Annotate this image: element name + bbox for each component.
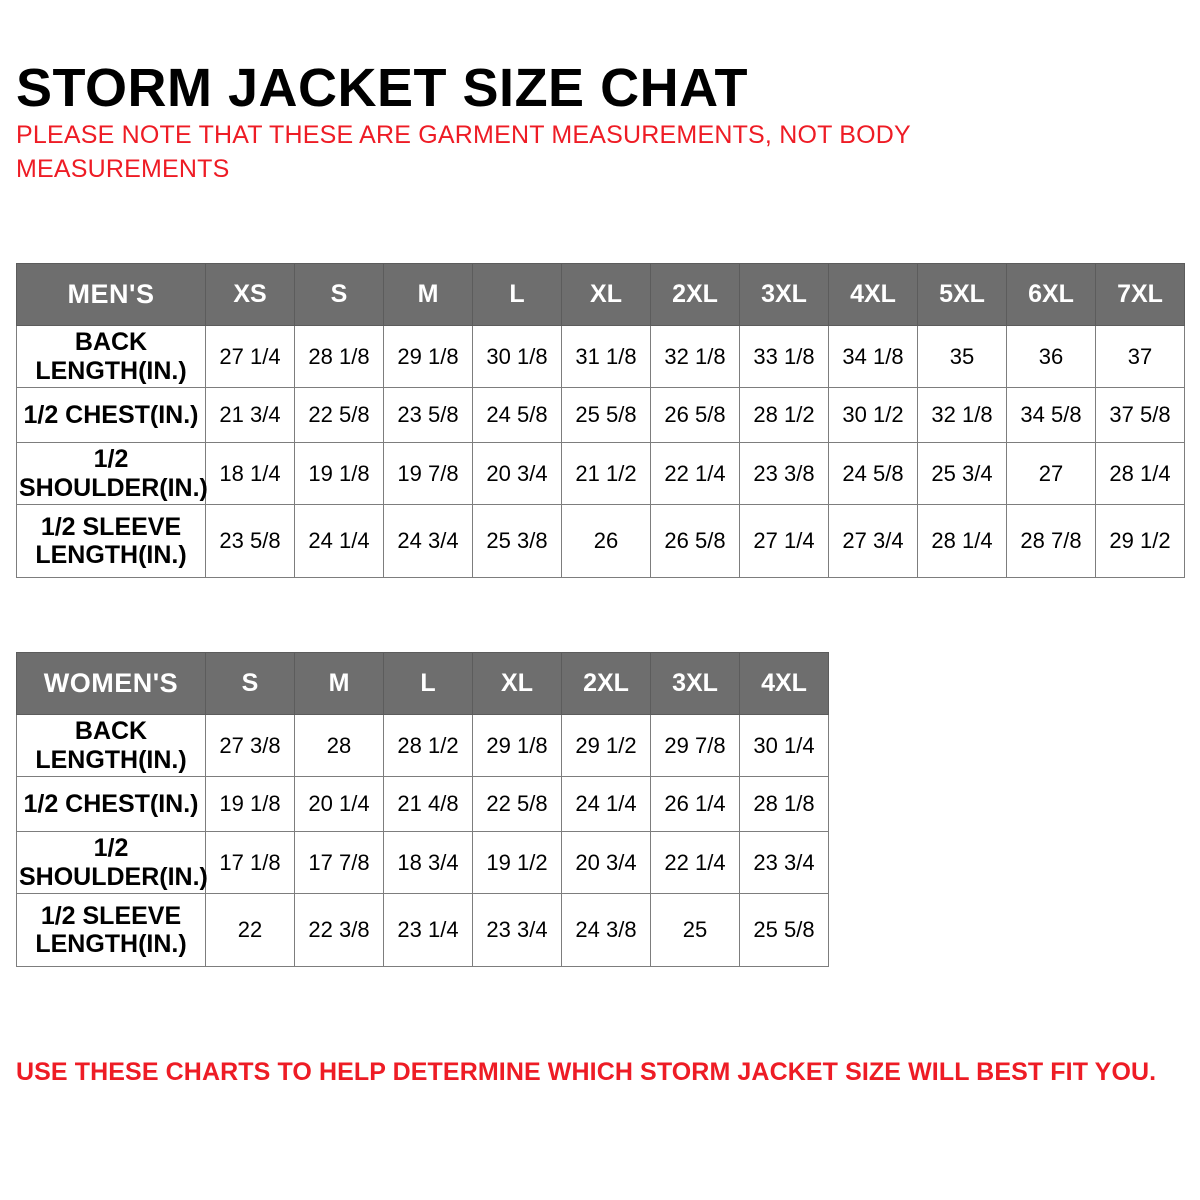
mens-measurement-value: 35 (918, 326, 1007, 388)
womens-measurement-value: 24 1/4 (562, 777, 651, 832)
womens-size-column-header: 4XL (740, 653, 829, 715)
mens-measurement-value: 24 5/8 (473, 388, 562, 443)
womens-measurement-value: 22 3/8 (295, 894, 384, 967)
mens-measurement-value: 28 7/8 (1007, 505, 1096, 578)
mens-measurement-value: 29 1/2 (1096, 505, 1185, 578)
table-row: 1/2 SHOULDER(IN.)18 1/419 1/819 7/820 3/… (17, 443, 1185, 505)
mens-measurement-value: 26 (562, 505, 651, 578)
womens-measurement-value: 29 1/8 (473, 715, 562, 777)
womens-measurement-value: 24 3/8 (562, 894, 651, 967)
womens-measurement-value: 28 (295, 715, 384, 777)
mens-measurement-value: 24 1/4 (295, 505, 384, 578)
womens-measurement-value: 23 3/4 (473, 894, 562, 967)
mens-measurement-value: 28 1/8 (295, 326, 384, 388)
mens-measurement-value: 27 (1007, 443, 1096, 505)
mens-size-column-header: M (384, 264, 473, 326)
mens-size-column-header: XS (206, 264, 295, 326)
womens-measurement-value: 19 1/2 (473, 832, 562, 894)
womens-measurement-value: 23 1/4 (384, 894, 473, 967)
mens-measurement-label: 1/2 CHEST(IN.) (17, 388, 206, 443)
womens-measurement-value: 28 1/2 (384, 715, 473, 777)
mens-measurement-label: 1/2 SLEEVELENGTH(IN.) (17, 505, 206, 578)
mens-table-header: MEN'SXSSMLXL2XL3XL4XL5XL6XL7XL (17, 264, 1185, 326)
mens-size-table: MEN'SXSSMLXL2XL3XL4XL5XL6XL7XL BACKLENGT… (16, 263, 1185, 578)
mens-size-column-header: 2XL (651, 264, 740, 326)
mens-measurement-value: 23 3/8 (740, 443, 829, 505)
womens-table-header: WOMEN'SSMLXL2XL3XL4XL (17, 653, 829, 715)
mens-measurement-value: 22 5/8 (295, 388, 384, 443)
womens-measurement-value: 28 1/8 (740, 777, 829, 832)
womens-measurement-label: 1/2 SHOULDER(IN.) (17, 832, 206, 894)
table-row: 1/2 SHOULDER(IN.)17 1/817 7/818 3/419 1/… (17, 832, 829, 894)
womens-measurement-value: 25 (651, 894, 740, 967)
mens-measurement-value: 28 1/4 (918, 505, 1007, 578)
womens-size-column-header: S (206, 653, 295, 715)
womens-measurement-value: 27 3/8 (206, 715, 295, 777)
mens-header-row: MEN'SXSSMLXL2XL3XL4XL5XL6XL7XL (17, 264, 1185, 326)
mens-size-column-header: 4XL (829, 264, 918, 326)
garment-measurement-note: PLEASE NOTE THAT THESE ARE GARMENT MEASU… (16, 118, 1116, 186)
womens-size-column-header: XL (473, 653, 562, 715)
womens-measurement-value: 18 3/4 (384, 832, 473, 894)
mens-measurement-label: 1/2 SHOULDER(IN.) (17, 443, 206, 505)
womens-size-table: WOMEN'SSMLXL2XL3XL4XL BACKLENGTH(IN.)27 … (16, 652, 829, 967)
womens-header-row: WOMEN'SSMLXL2XL3XL4XL (17, 653, 829, 715)
mens-measurement-value: 37 (1096, 326, 1185, 388)
mens-measurement-value: 20 3/4 (473, 443, 562, 505)
table-row: 1/2 CHEST(IN.)21 3/422 5/823 5/824 5/825… (17, 388, 1185, 443)
womens-measurement-value: 20 3/4 (562, 832, 651, 894)
mens-measurement-value: 26 5/8 (651, 505, 740, 578)
mens-measurement-value: 24 5/8 (829, 443, 918, 505)
mens-size-column-header: 6XL (1007, 264, 1096, 326)
womens-measurement-value: 22 1/4 (651, 832, 740, 894)
mens-measurement-value: 21 1/2 (562, 443, 651, 505)
womens-measurement-value: 19 1/8 (206, 777, 295, 832)
womens-size-column-header: L (384, 653, 473, 715)
womens-measurement-value: 17 1/8 (206, 832, 295, 894)
mens-size-column-header: 7XL (1096, 264, 1185, 326)
mens-measurement-value: 25 3/4 (918, 443, 1007, 505)
mens-measurement-value: 23 5/8 (206, 505, 295, 578)
page-title: STORM JACKET SIZE CHAT (16, 60, 748, 117)
mens-measurement-value: 32 1/8 (918, 388, 1007, 443)
womens-measurement-label: 1/2 CHEST(IN.) (17, 777, 206, 832)
mens-measurement-value: 37 5/8 (1096, 388, 1185, 443)
table-row: 1/2 CHEST(IN.)19 1/820 1/421 4/822 5/824… (17, 777, 829, 832)
mens-measurement-value: 27 1/4 (740, 505, 829, 578)
mens-size-column-header: 5XL (918, 264, 1007, 326)
womens-measurement-value: 22 (206, 894, 295, 967)
mens-table-body: BACKLENGTH(IN.)27 1/428 1/829 1/830 1/83… (17, 326, 1185, 578)
mens-measurement-value: 30 1/8 (473, 326, 562, 388)
table-row: 1/2 SLEEVELENGTH(IN.)2222 3/823 1/423 3/… (17, 894, 829, 967)
usage-note: USE THESE CHARTS TO HELP DETERMINE WHICH… (16, 1058, 1176, 1087)
womens-size-column-header: M (295, 653, 384, 715)
womens-measurement-label: BACKLENGTH(IN.) (17, 715, 206, 777)
mens-measurement-value: 28 1/2 (740, 388, 829, 443)
size-chart-page: STORM JACKET SIZE CHAT PLEASE NOTE THAT … (0, 0, 1200, 1200)
womens-size-column-header: 3XL (651, 653, 740, 715)
mens-measurement-value: 32 1/8 (651, 326, 740, 388)
mens-measurement-value: 24 3/4 (384, 505, 473, 578)
mens-measurement-value: 22 1/4 (651, 443, 740, 505)
mens-measurement-value: 27 3/4 (829, 505, 918, 578)
mens-measurement-value: 34 5/8 (1007, 388, 1096, 443)
womens-measurement-value: 23 3/4 (740, 832, 829, 894)
mens-measurement-value: 36 (1007, 326, 1096, 388)
womens-measurement-value: 22 5/8 (473, 777, 562, 832)
womens-size-column-header: 2XL (562, 653, 651, 715)
womens-table-corner-label: WOMEN'S (17, 653, 206, 715)
mens-measurement-value: 29 1/8 (384, 326, 473, 388)
mens-measurement-value: 26 5/8 (651, 388, 740, 443)
womens-measurement-value: 21 4/8 (384, 777, 473, 832)
table-row: BACKLENGTH(IN.)27 1/428 1/829 1/830 1/83… (17, 326, 1185, 388)
mens-size-column-header: XL (562, 264, 651, 326)
mens-measurement-value: 30 1/2 (829, 388, 918, 443)
mens-measurement-value: 33 1/8 (740, 326, 829, 388)
mens-measurement-value: 23 5/8 (384, 388, 473, 443)
table-row: 1/2 SLEEVELENGTH(IN.)23 5/824 1/424 3/42… (17, 505, 1185, 578)
mens-measurement-value: 27 1/4 (206, 326, 295, 388)
womens-measurement-value: 30 1/4 (740, 715, 829, 777)
womens-table-body: BACKLENGTH(IN.)27 3/82828 1/229 1/829 1/… (17, 715, 829, 967)
mens-measurement-value: 25 5/8 (562, 388, 651, 443)
womens-measurement-value: 29 7/8 (651, 715, 740, 777)
womens-measurement-value: 17 7/8 (295, 832, 384, 894)
womens-measurement-value: 20 1/4 (295, 777, 384, 832)
mens-measurement-value: 21 3/4 (206, 388, 295, 443)
mens-size-column-header: S (295, 264, 384, 326)
table-row: BACKLENGTH(IN.)27 3/82828 1/229 1/829 1/… (17, 715, 829, 777)
mens-measurement-value: 28 1/4 (1096, 443, 1185, 505)
mens-size-column-header: L (473, 264, 562, 326)
mens-measurement-value: 19 1/8 (295, 443, 384, 505)
womens-measurement-value: 26 1/4 (651, 777, 740, 832)
mens-measurement-value: 18 1/4 (206, 443, 295, 505)
womens-measurement-label: 1/2 SLEEVELENGTH(IN.) (17, 894, 206, 967)
mens-measurement-value: 25 3/8 (473, 505, 562, 578)
mens-table-corner-label: MEN'S (17, 264, 206, 326)
mens-measurement-value: 19 7/8 (384, 443, 473, 505)
mens-measurement-value: 34 1/8 (829, 326, 918, 388)
mens-measurement-label: BACKLENGTH(IN.) (17, 326, 206, 388)
mens-measurement-value: 31 1/8 (562, 326, 651, 388)
womens-measurement-value: 25 5/8 (740, 894, 829, 967)
mens-size-column-header: 3XL (740, 264, 829, 326)
womens-measurement-value: 29 1/2 (562, 715, 651, 777)
